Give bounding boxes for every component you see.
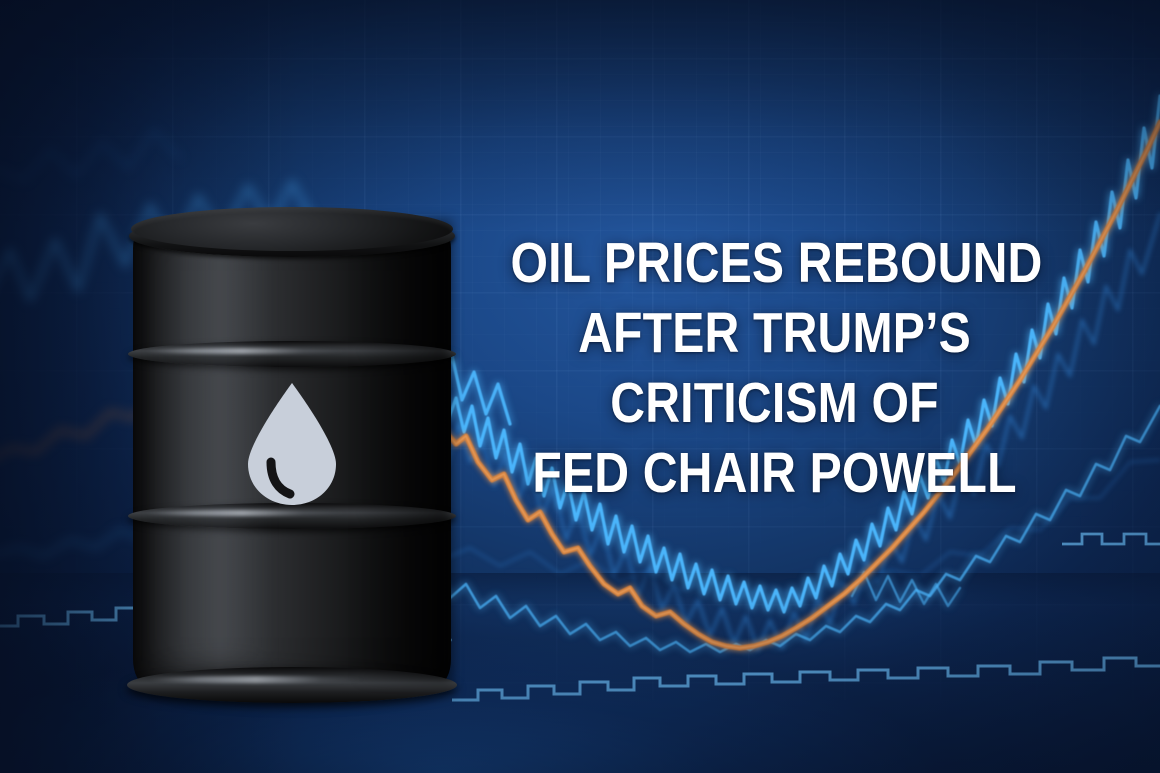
headline: OIL PRICES REBOUND AFTER TRUMP’S CRITICI…	[510, 228, 1038, 508]
oil-droplet-icon	[243, 380, 341, 508]
oil-barrel	[133, 207, 451, 695]
headline-line-2: AFTER TRUMP’S	[510, 298, 1038, 368]
headline-line-3: CRITICISM OF	[510, 368, 1038, 438]
news-graphic-canvas: OIL PRICES REBOUND AFTER TRUMP’S CRITICI…	[0, 0, 1160, 773]
headline-line-4: FED CHAIR POWELL	[510, 438, 1038, 508]
headline-line-1: OIL PRICES REBOUND	[510, 228, 1038, 298]
barrel-top-face	[131, 207, 453, 251]
barrel-rib-upper	[128, 341, 456, 367]
barrel-bottom-rim	[127, 667, 457, 703]
